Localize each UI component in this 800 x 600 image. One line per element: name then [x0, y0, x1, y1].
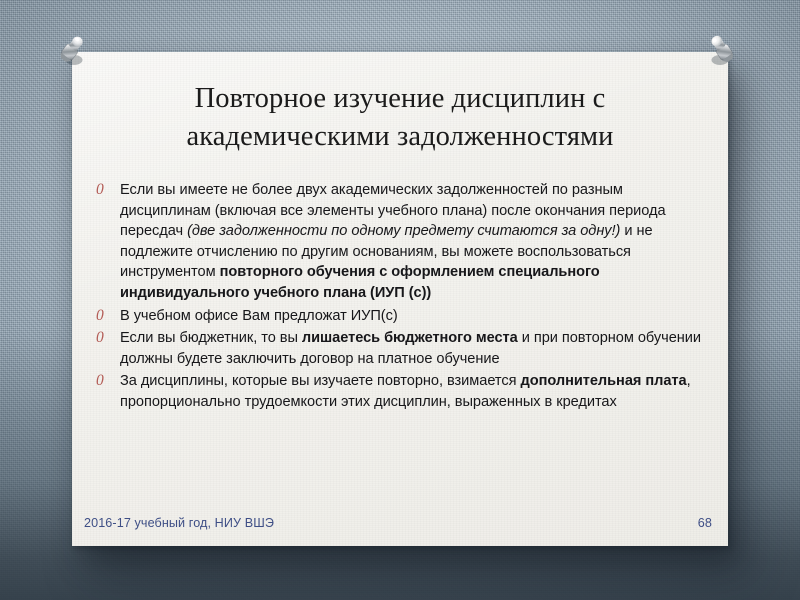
list-item: 0 В учебном офисе Вам предложат ИУП(с): [90, 306, 708, 327]
list-item: 0 За дисциплины, которые вы изучаете пов…: [90, 371, 708, 412]
bullet-list: 0 Если вы имеете не более двух академиче…: [90, 180, 708, 415]
page-title: Повторное изучение дисциплин с академиче…: [106, 80, 694, 155]
list-item: 0 Если вы бюджетник, то вы лишаетесь бюд…: [90, 328, 708, 369]
slide-number: 68: [698, 516, 712, 530]
bullet-text: За дисциплины, которые вы изучаете повто…: [120, 371, 708, 412]
slide-stage: Повторное изучение дисциплин с академиче…: [0, 0, 800, 600]
bullet-text: Если вы бюджетник, то вы лишаетесь бюдже…: [120, 328, 708, 369]
slide-paper-card: Повторное изучение дисциплин с академиче…: [72, 52, 728, 546]
bullet-marker-icon: 0: [90, 306, 120, 327]
bullet-marker-icon: 0: [90, 371, 120, 392]
list-item: 0 Если вы имеете не более двух академиче…: [90, 180, 708, 304]
bullet-text: Если вы имеете не более двух академическ…: [120, 180, 708, 304]
bullet-text: В учебном офисе Вам предложат ИУП(с): [120, 306, 708, 327]
slide-footer: 2016-17 учебный год, НИУ ВШЭ 68: [84, 516, 712, 530]
bullet-marker-icon: 0: [90, 180, 120, 201]
bullet-marker-icon: 0: [90, 328, 120, 349]
footer-course-year: 2016-17 учебный год, НИУ ВШЭ: [84, 516, 274, 530]
